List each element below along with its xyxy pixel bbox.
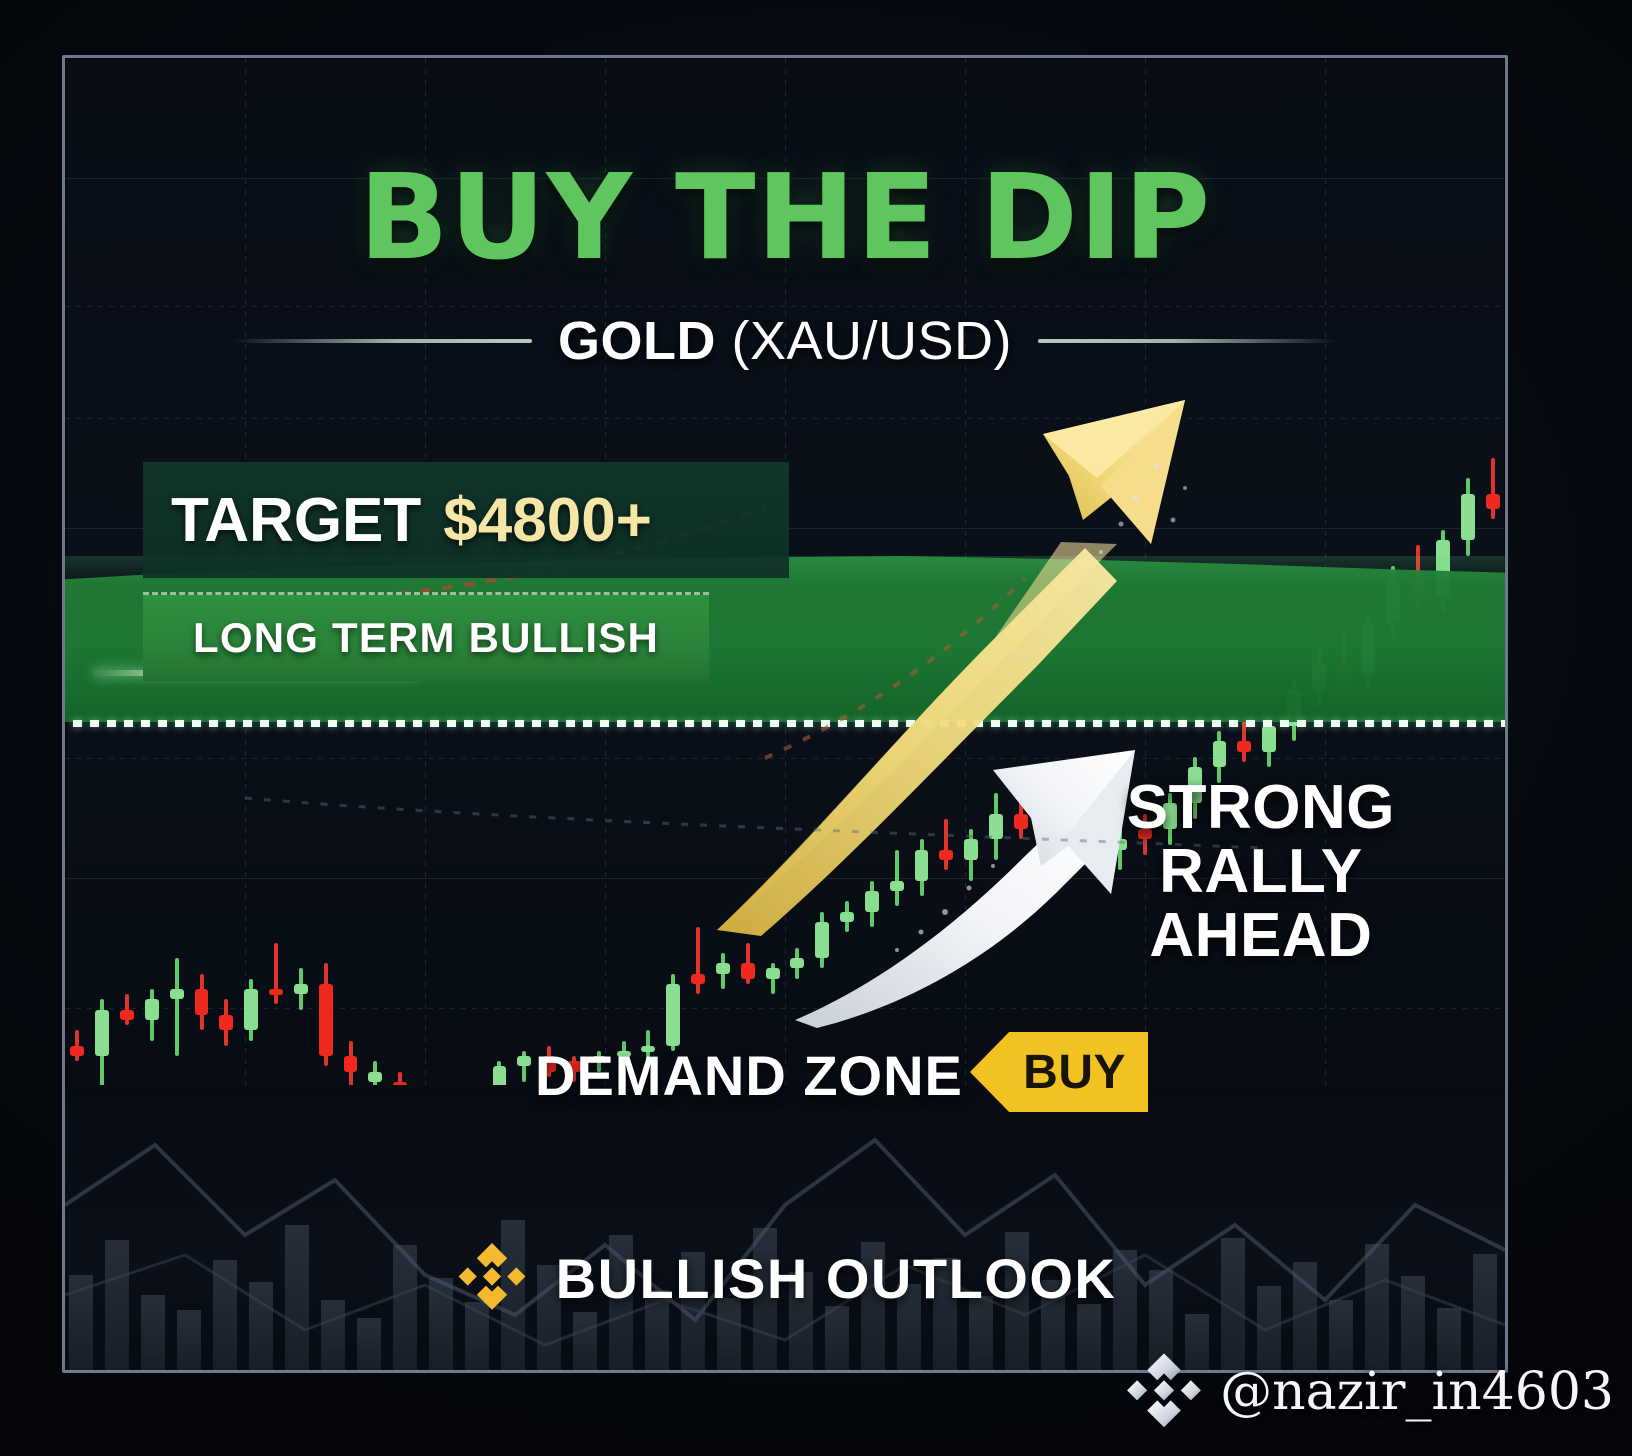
- footer-outlook: BULLISH OUTLOOK: [65, 1240, 1505, 1316]
- target-label: TARGET: [171, 485, 421, 556]
- buy-tag-label: BUY: [1023, 1045, 1126, 1100]
- target-value: $4800+: [443, 485, 652, 556]
- footer-outlook-label: BULLISH OUTLOOK: [556, 1246, 1117, 1311]
- rally-callout: STRONG RALLY AHEAD: [1127, 776, 1395, 968]
- poster-canvas: BUY THE DIP GOLD (XAU/USD) TARGET $4800+…: [0, 0, 1632, 1456]
- instrument-name: GOLD: [558, 311, 716, 371]
- instrument-pair: (XAU/USD): [732, 311, 1013, 371]
- watermark: @nazir_in4603: [1122, 1350, 1614, 1434]
- rally-line-3: AHEAD: [1127, 904, 1395, 968]
- watermark-handle: @nazir_in4603: [1220, 1362, 1614, 1422]
- demand-zone-label: DEMAND ZONE: [535, 1043, 963, 1108]
- binance-logo-icon: [454, 1240, 530, 1316]
- chart-frame: BUY THE DIP GOLD (XAU/USD) TARGET $4800+…: [62, 55, 1508, 1373]
- binance-diamond-icon: [1122, 1350, 1206, 1434]
- bias-banner: LONG TERM BULLISH: [143, 592, 709, 681]
- rally-line-1: STRONG: [1127, 776, 1395, 840]
- rally-line-2: RALLY: [1127, 840, 1395, 904]
- page-title: BUY THE DIP: [65, 158, 1505, 276]
- header-rule-right: [1038, 339, 1338, 343]
- instrument-header: GOLD (XAU/USD): [65, 310, 1505, 372]
- instrument-label: GOLD (XAU/USD): [558, 310, 1012, 372]
- target-badge: TARGET $4800+: [143, 462, 789, 578]
- header-rule-left: [232, 339, 532, 343]
- bias-banner-label: LONG TERM BULLISH: [193, 614, 659, 662]
